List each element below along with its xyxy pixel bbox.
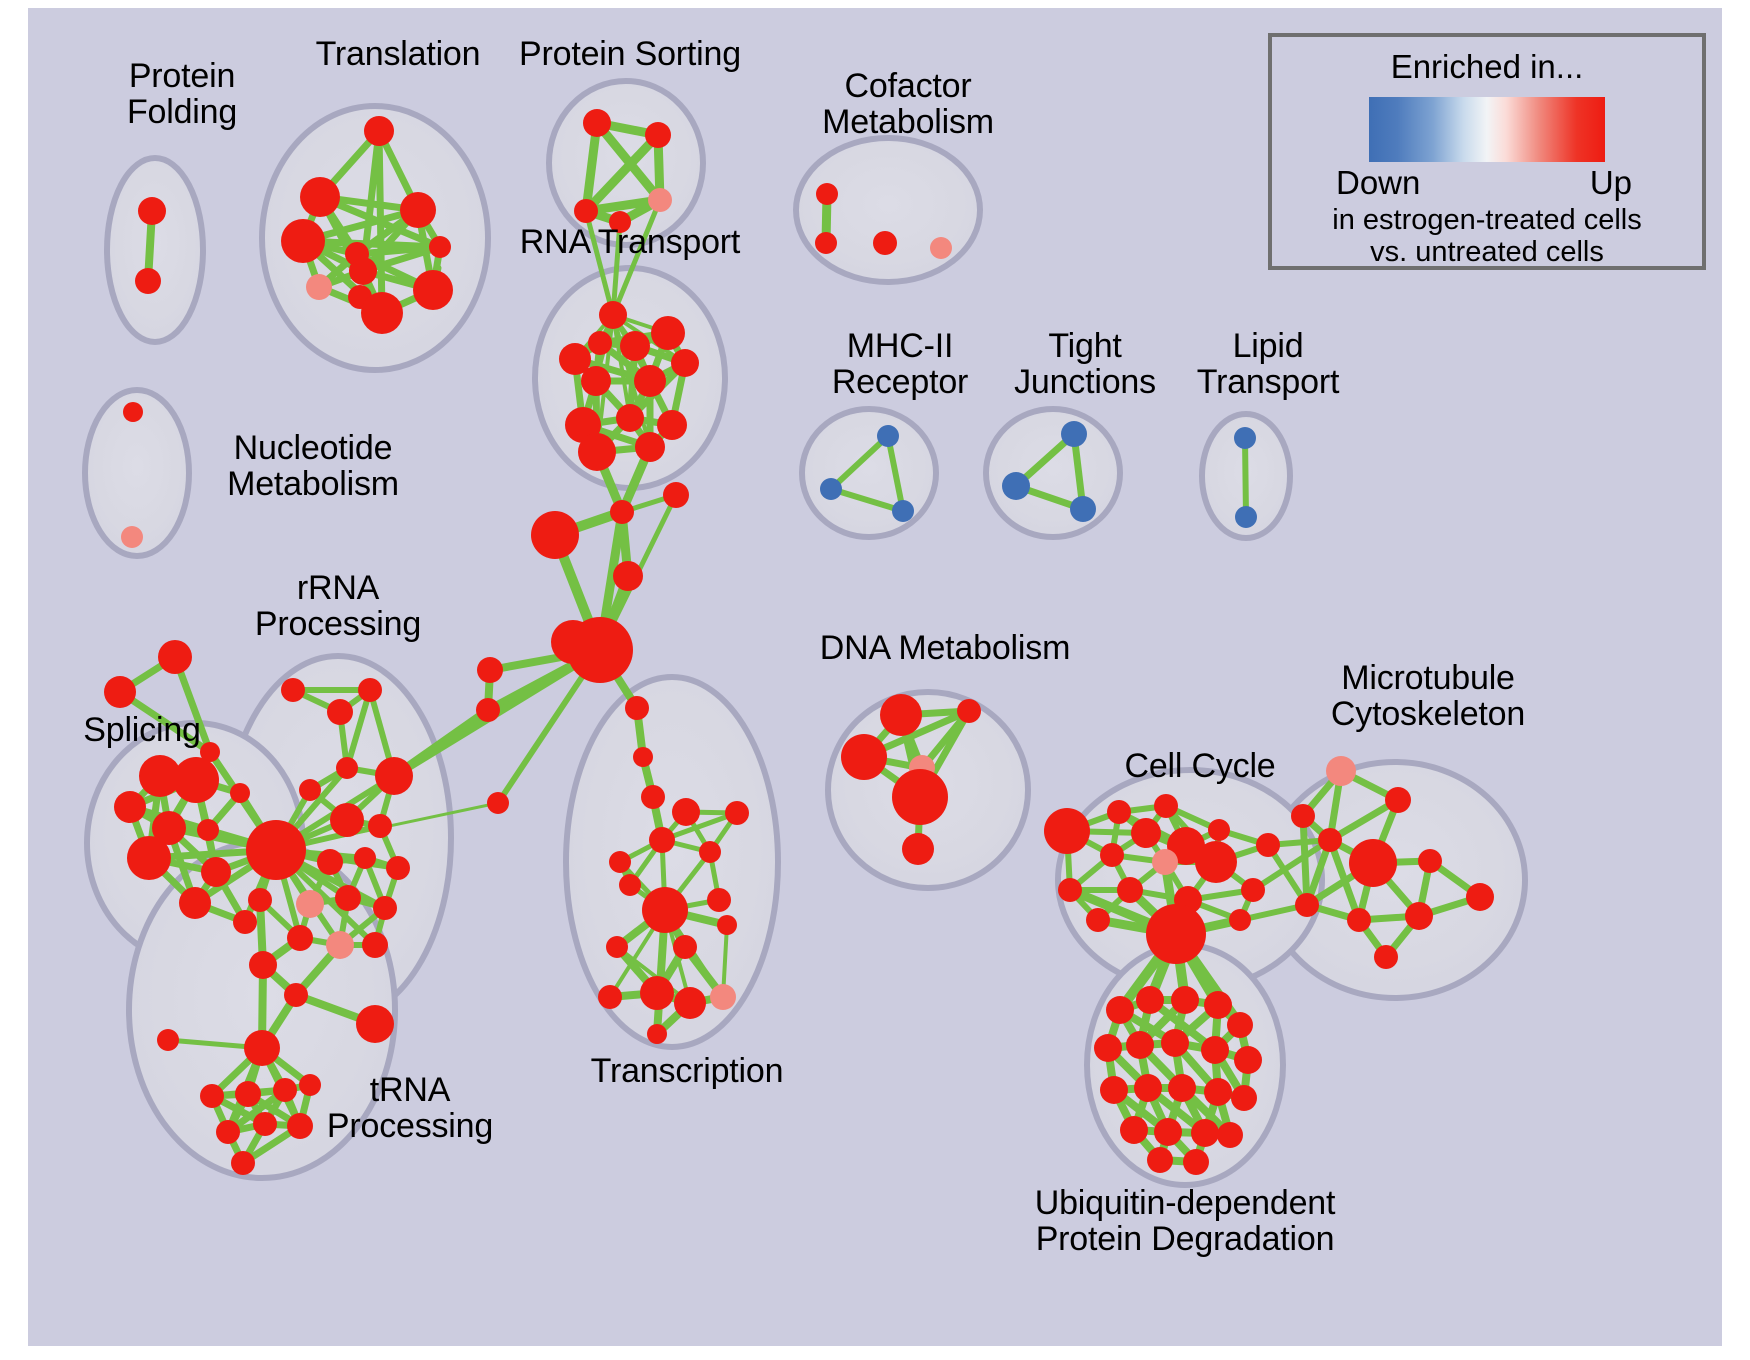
node	[1058, 878, 1082, 902]
node	[1107, 800, 1131, 824]
node	[476, 698, 500, 722]
node	[725, 801, 749, 825]
legend-color-gradient-bar	[1369, 97, 1605, 162]
node	[249, 951, 277, 979]
node	[1204, 1078, 1232, 1106]
node	[1168, 1074, 1196, 1102]
node	[648, 188, 672, 212]
node	[930, 237, 952, 259]
node	[1152, 849, 1178, 875]
node	[1217, 1122, 1243, 1148]
legend-caption: in estrogen-treated cells vs. untreated …	[1272, 204, 1702, 269]
node	[296, 890, 324, 918]
node	[616, 404, 644, 432]
node	[651, 316, 685, 350]
node	[1086, 908, 1110, 932]
node	[157, 1029, 179, 1051]
node	[663, 482, 689, 508]
node	[671, 349, 699, 377]
color-legend: Enriched in... Down Up in estrogen-treat…	[1268, 33, 1706, 270]
node	[1061, 421, 1087, 447]
node	[640, 976, 674, 1010]
node	[356, 1005, 394, 1043]
node	[287, 1113, 313, 1139]
node	[1291, 804, 1315, 828]
node	[299, 1074, 321, 1096]
node	[386, 856, 410, 880]
legend-title: Enriched in...	[1272, 48, 1702, 86]
node	[619, 874, 641, 896]
node	[413, 270, 453, 310]
node	[1106, 996, 1134, 1024]
node	[477, 657, 503, 683]
node	[880, 694, 922, 736]
node	[1161, 1029, 1189, 1057]
node	[699, 841, 721, 863]
node	[123, 402, 143, 422]
node	[873, 231, 897, 255]
node	[235, 1081, 261, 1107]
node	[201, 857, 231, 887]
node	[364, 116, 394, 146]
node	[158, 640, 192, 674]
node	[362, 932, 388, 958]
node	[645, 122, 671, 148]
node	[230, 783, 250, 803]
node	[1405, 902, 1433, 930]
node	[373, 896, 397, 920]
node	[657, 410, 687, 440]
node	[317, 849, 343, 875]
node	[1256, 833, 1280, 857]
node	[246, 820, 306, 880]
node	[1466, 883, 1494, 911]
node	[400, 192, 436, 228]
node	[1234, 427, 1256, 449]
node	[633, 747, 653, 767]
node	[625, 696, 649, 720]
node	[1234, 1046, 1262, 1074]
node	[1231, 1085, 1257, 1111]
node	[892, 769, 948, 825]
node	[574, 199, 598, 223]
legend-up-label: Up	[1590, 164, 1632, 202]
node	[598, 985, 622, 1009]
node	[583, 109, 611, 137]
node	[531, 511, 579, 559]
node	[892, 500, 914, 522]
node	[1134, 1074, 1162, 1102]
node	[1318, 828, 1342, 852]
node	[361, 292, 403, 334]
node	[330, 803, 364, 837]
node	[707, 888, 731, 912]
node	[273, 1078, 297, 1102]
node	[1326, 756, 1356, 786]
node	[358, 678, 382, 702]
node	[1191, 1119, 1219, 1147]
node	[1195, 841, 1237, 883]
node	[1227, 1012, 1253, 1038]
node	[672, 798, 700, 826]
node	[1131, 818, 1161, 848]
node	[1201, 1036, 1229, 1064]
node	[1147, 1147, 1173, 1173]
node	[1418, 849, 1442, 873]
node	[244, 1030, 280, 1066]
node	[114, 791, 146, 823]
node	[135, 268, 161, 294]
node	[253, 1112, 277, 1136]
node	[1100, 1076, 1128, 1104]
node	[1154, 794, 1178, 818]
node	[957, 699, 981, 723]
node	[1117, 877, 1143, 903]
node	[613, 561, 643, 591]
node	[299, 779, 321, 801]
legend-down-label: Down	[1336, 164, 1420, 202]
node	[138, 197, 166, 225]
node	[815, 232, 837, 254]
node	[349, 257, 377, 285]
node	[902, 833, 934, 865]
node	[336, 757, 358, 779]
node	[581, 366, 611, 396]
node	[231, 1151, 255, 1175]
node	[635, 432, 665, 462]
node	[197, 819, 219, 841]
node	[375, 757, 413, 795]
node	[620, 331, 650, 361]
node	[610, 500, 634, 524]
node	[179, 887, 211, 919]
node	[1374, 945, 1398, 969]
node	[1070, 496, 1096, 522]
node	[326, 931, 354, 959]
node	[578, 433, 616, 471]
node	[487, 792, 509, 814]
node	[306, 274, 332, 300]
node	[820, 478, 842, 500]
node	[127, 836, 171, 880]
node	[710, 984, 736, 1010]
cluster-blob-protein-folding	[107, 158, 203, 342]
node	[1126, 1031, 1154, 1059]
enrichment-network-figure: Protein Folding Translation Protein Sort…	[0, 0, 1750, 1360]
node	[634, 365, 666, 397]
cluster-blob-mhc-ii-receptor	[802, 409, 936, 537]
node	[200, 1084, 224, 1108]
node	[327, 699, 353, 725]
node	[335, 885, 361, 911]
node	[1136, 986, 1164, 1014]
node	[674, 987, 706, 1019]
node	[609, 211, 631, 233]
legend-endpoint-labels: Down Up	[1336, 164, 1638, 204]
node	[1002, 472, 1030, 500]
node	[1235, 506, 1257, 528]
node	[233, 910, 257, 934]
node	[877, 425, 899, 447]
node	[121, 526, 143, 548]
node	[1349, 839, 1397, 887]
node	[281, 678, 305, 702]
node	[1171, 986, 1199, 1014]
node	[300, 177, 340, 217]
node	[1094, 1034, 1122, 1062]
node	[641, 785, 665, 809]
node	[1295, 893, 1319, 917]
node	[841, 734, 887, 780]
node	[606, 936, 628, 958]
node	[1100, 843, 1124, 867]
node	[588, 331, 612, 355]
node	[1204, 991, 1232, 1019]
cluster-blob-tight-junctions	[986, 409, 1120, 537]
node	[1183, 1149, 1209, 1175]
node	[816, 183, 838, 205]
node	[642, 887, 688, 933]
node	[173, 757, 219, 803]
node	[1146, 904, 1206, 964]
node	[1044, 808, 1090, 854]
node	[609, 851, 631, 873]
node	[551, 620, 595, 664]
node	[647, 1024, 667, 1044]
node	[1120, 1116, 1148, 1144]
node	[717, 915, 737, 935]
node	[287, 925, 313, 951]
node	[673, 935, 697, 959]
node	[248, 888, 272, 912]
node	[599, 301, 627, 329]
node	[354, 847, 376, 869]
node	[649, 827, 675, 853]
node	[1241, 878, 1265, 902]
node	[281, 219, 325, 263]
node	[1385, 787, 1411, 813]
node	[1229, 909, 1251, 931]
node	[1154, 1118, 1182, 1146]
node	[216, 1120, 240, 1144]
node	[368, 814, 392, 838]
node	[429, 236, 451, 258]
node	[284, 983, 308, 1007]
node	[1347, 908, 1371, 932]
node	[104, 676, 136, 708]
node	[1208, 819, 1230, 841]
